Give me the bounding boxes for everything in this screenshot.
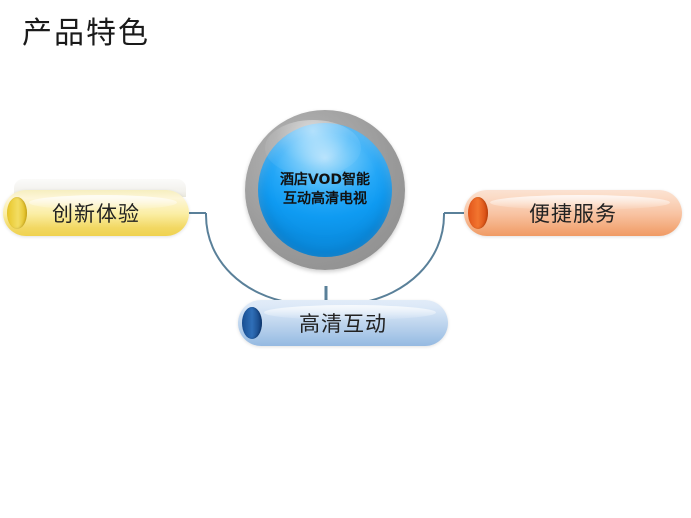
node-innovation[interactable]: 创新体验: [3, 190, 189, 236]
node-service[interactable]: 便捷服务: [464, 190, 682, 236]
hub-label: 酒店VOD智能 互动高清电视: [245, 110, 405, 270]
node-service-label: 便捷服务: [464, 190, 682, 236]
hub-label-line1: 酒店VOD智能: [280, 171, 370, 190]
node-hd-interactive-label: 高清互动: [238, 300, 448, 346]
node-hd-interactive[interactable]: 高清互动: [238, 300, 448, 346]
hub-label-line2: 互动高清电视: [283, 190, 367, 209]
center-hub[interactable]: 酒店VOD智能 互动高清电视: [245, 110, 405, 270]
node-innovation-label: 创新体验: [3, 190, 189, 236]
